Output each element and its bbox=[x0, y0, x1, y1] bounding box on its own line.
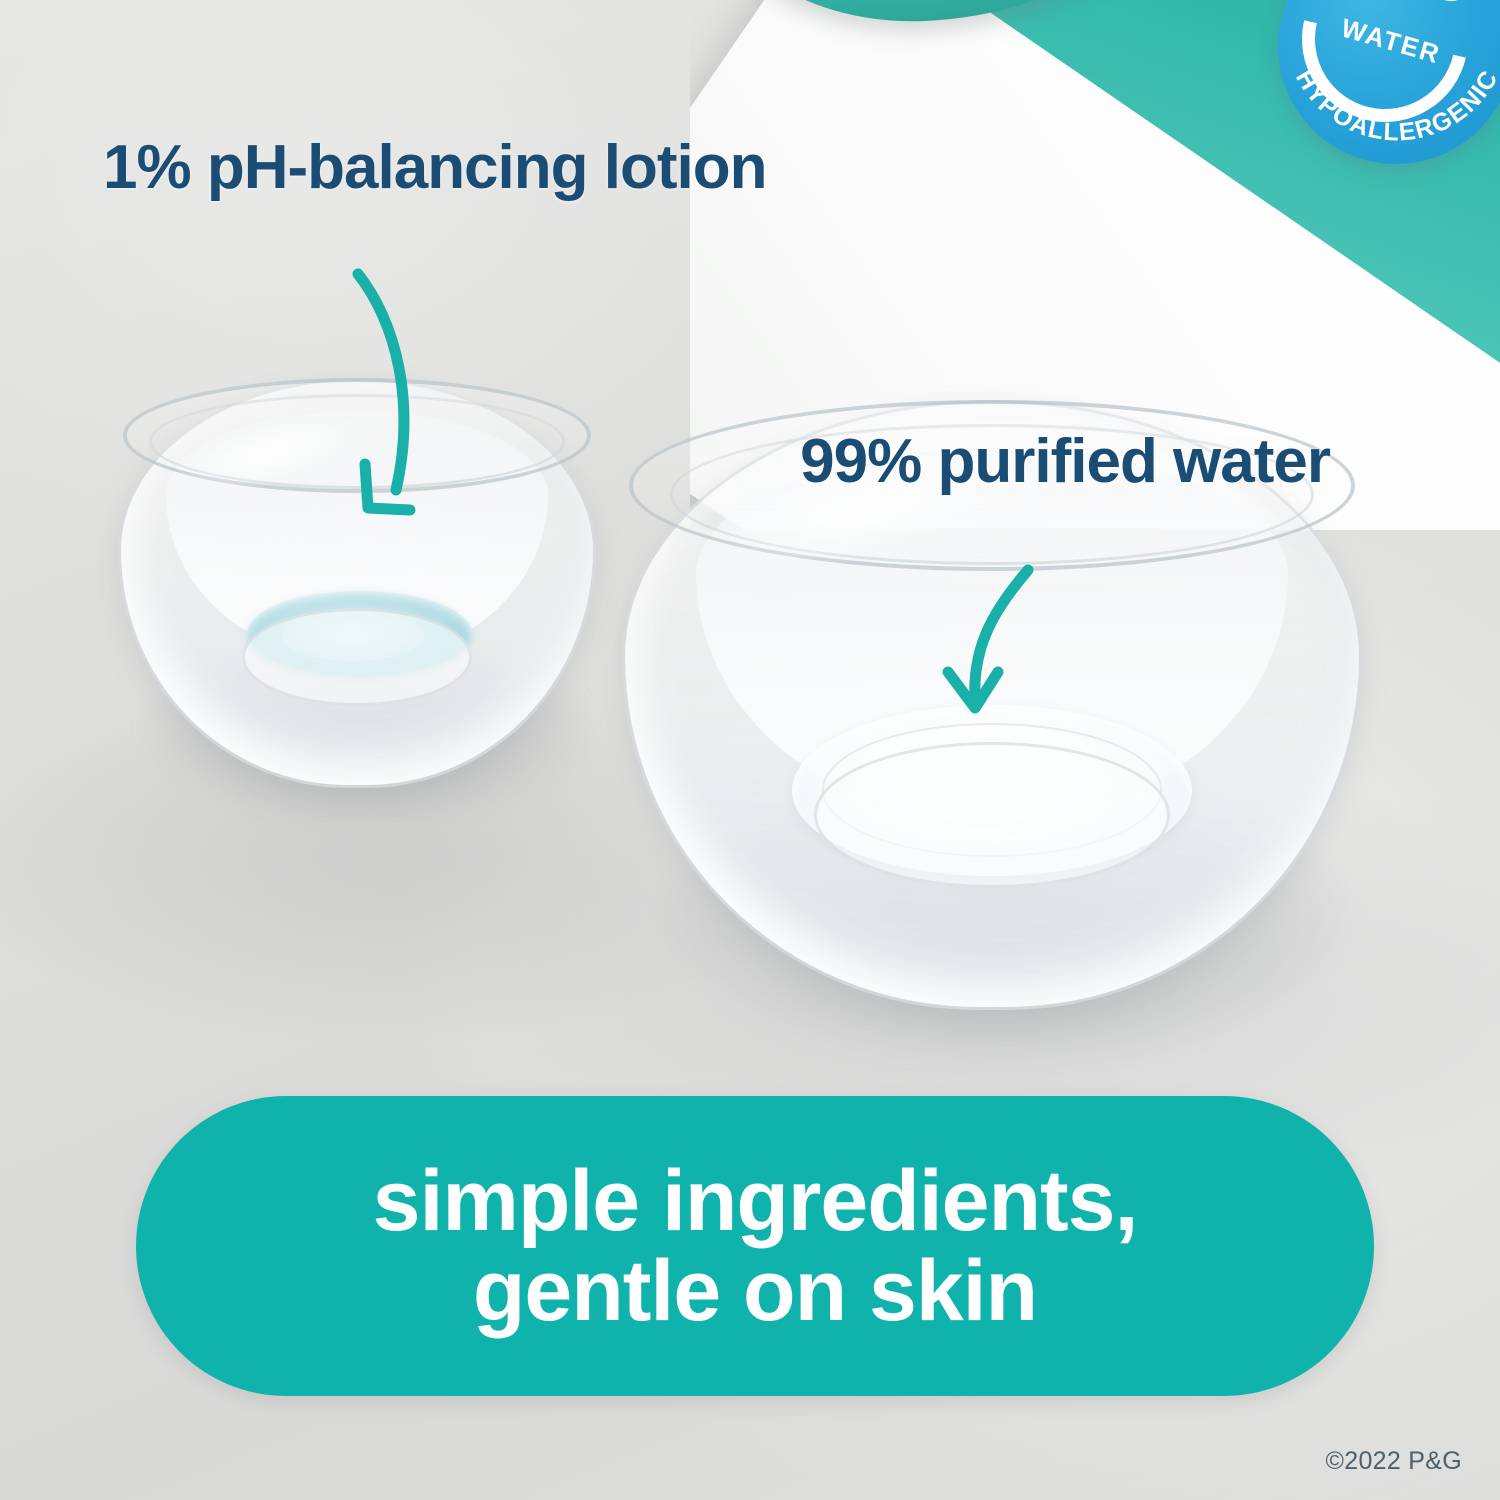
tagline-text: simple ingredients, gentle on skin bbox=[373, 1156, 1138, 1337]
svg-text:HYPOALLERGENIC: HYPOALLERGENIC bbox=[1290, 65, 1500, 147]
callout-lotion-label: 1% pH-balancing lotion bbox=[103, 136, 793, 199]
tagline-banner: simple ingredients, gentle on skin bbox=[136, 1096, 1374, 1396]
curved-arrow-down-icon bbox=[930, 560, 1060, 750]
callout-water-label: 99% purified water bbox=[790, 430, 1330, 493]
infographic-canvas: 99% WATER HYPOALLERGENIC 1% pH-balancing… bbox=[0, 0, 1500, 1500]
hypoallergenic-badge: 99% WATER HYPOALLERGENIC bbox=[1278, 0, 1500, 164]
badge-hypoallergenic-label: HYPOALLERGENIC bbox=[1278, 32, 1500, 162]
badge-hypoallergenic-text: HYPOALLERGENIC bbox=[1290, 65, 1500, 147]
curved-arrow-down-left-icon bbox=[330, 252, 470, 542]
large-bowl-base-ring bbox=[814, 742, 1169, 888]
small-bowl-base-ring bbox=[242, 608, 471, 706]
copyright-notice: ©2022 P&G bbox=[1326, 1447, 1462, 1476]
